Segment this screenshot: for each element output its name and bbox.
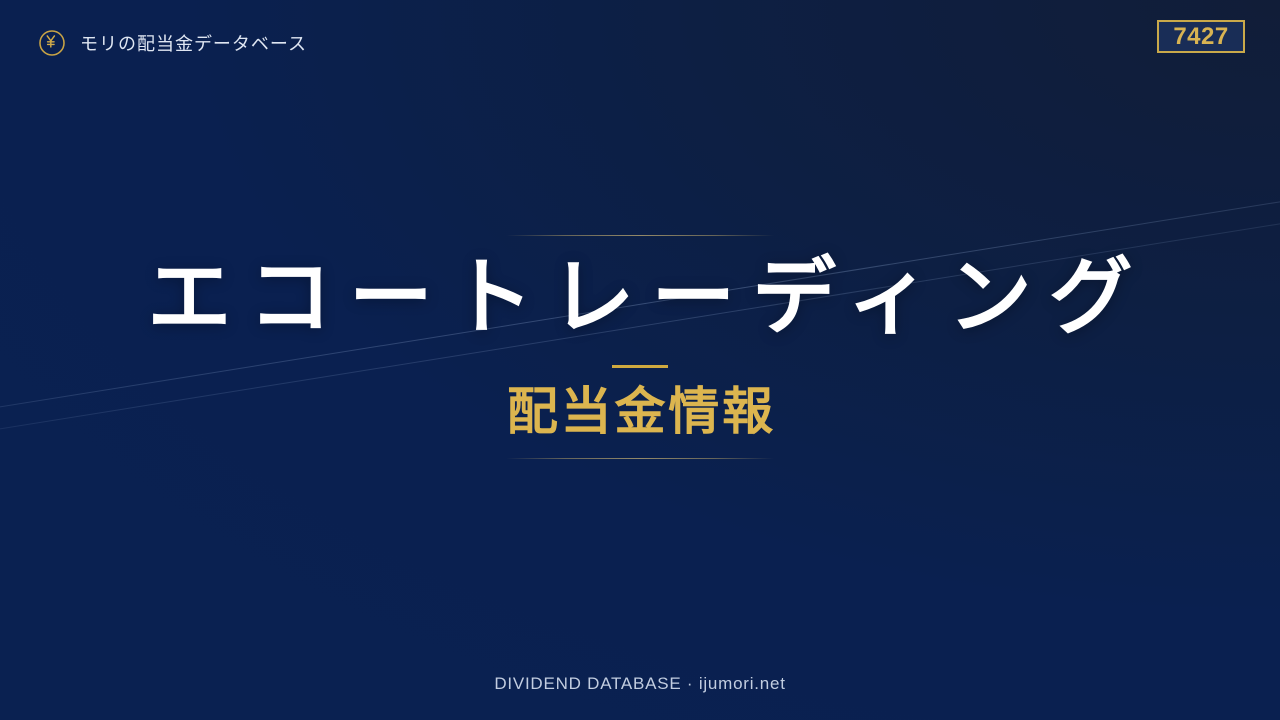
ticker-code-badge: 7427 [1157, 20, 1245, 53]
ticker-code-value: 7427 [1173, 25, 1228, 49]
company-name-title: エコートレーディング [131, 254, 1150, 343]
gold-divider [612, 365, 668, 368]
footer-credit: DIVIDEND DATABASE · ijumori.net [494, 674, 785, 694]
hero-section: エコートレーディング 配当金情報 [0, 0, 1280, 720]
page-subtitle: 配当金情報 [504, 384, 776, 440]
page-footer: DIVIDEND DATABASE · ijumori.net [0, 648, 1280, 720]
slide-canvas: モリの配当金データベース 7427 エコートレーディング 配当金情報 DIVID… [0, 0, 1280, 720]
brand-name: モリの配当金データベース [80, 30, 307, 56]
page-header: モリの配当金データベース 7427 [0, 0, 1280, 88]
hero-rule-top [506, 235, 774, 236]
yen-circle-icon [36, 27, 67, 58]
brand: モリの配当金データベース [36, 27, 307, 58]
hero-rule-bottom [506, 458, 774, 459]
hero-content: エコートレーディング 配当金情報 [131, 235, 1150, 459]
